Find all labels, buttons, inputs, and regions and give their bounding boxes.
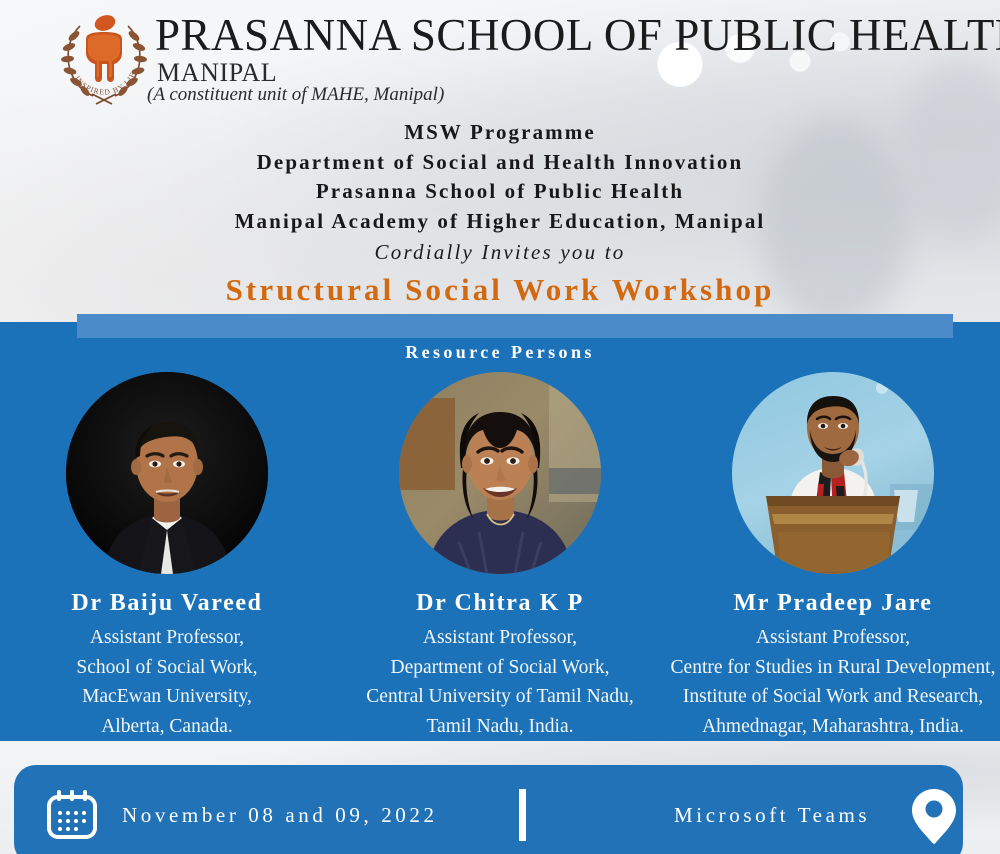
affiliation-line: Centre for Studies in Rural Development, [667, 653, 1000, 683]
calendar-icon [44, 786, 102, 844]
institution-title: PRASANNA SCHOOL OF PUBLIC HEALTH [155, 10, 1000, 60]
event-poster: INSPIRED BY LIFE PRASANNA SCHOOL OF PUBL… [0, 0, 1000, 854]
resource-person-name: Dr Baiju Vareed [1, 590, 334, 617]
photo-chitra-kp [399, 372, 601, 574]
affiliation-line: Assistant Professor, [334, 623, 667, 653]
affiliation-line: MacEwan University, [1, 682, 334, 712]
mahe-logo: INSPIRED BY LIFE [56, 6, 152, 110]
affiliation-line: Ahmednagar, Maharashtra, India. [667, 712, 1000, 742]
programme-line: Prasanna School of Public Health [0, 177, 1000, 207]
affiliation-line: Tamil Nadu, India. [334, 712, 667, 742]
affiliation-line: Alberta, Canada. [1, 712, 334, 742]
event-platform: Microsoft Teams [674, 765, 870, 854]
affiliation-line: Central University of Tamil Nadu, [334, 682, 667, 712]
programme-line: Manipal Academy of Higher Education, Man… [0, 207, 1000, 237]
resource-person-affiliation: Assistant Professor, School of Social Wo… [1, 623, 334, 741]
institution-unit-note: (A constituent unit of MAHE, Manipal) [147, 83, 444, 107]
poster-header: INSPIRED BY LIFE PRASANNA SCHOOL OF PUBL… [0, 0, 1000, 322]
affiliation-line: School of Social Work, [1, 653, 334, 683]
footer-divider [519, 789, 526, 841]
affiliation-line: Assistant Professor, [1, 623, 334, 653]
affiliation-line: Department of Social Work, [334, 653, 667, 683]
resource-person-card: Dr Baiju Vareed Assistant Professor, Sch… [1, 372, 334, 741]
invitation-text: Cordially Invites you to [0, 240, 1000, 265]
event-title: Structural Social Work Workshop [0, 272, 1000, 308]
programme-line: Department of Social and Health Innovati… [0, 148, 1000, 178]
resource-persons-list: Dr Baiju Vareed Assistant Professor, Sch… [0, 372, 1000, 741]
location-pin-icon [907, 787, 961, 845]
resource-person-card: Mr Pradeep Jare Assistant Professor, Cen… [667, 372, 1000, 741]
resource-person-card: Dr Chitra K P Assistant Professor, Depar… [334, 372, 667, 741]
footer-info-bar: November 08 and 09, 2022 Microsoft Teams [14, 765, 963, 854]
resource-person-affiliation: Assistant Professor, Department of Socia… [334, 623, 667, 741]
programme-block: MSW Programme Department of Social and H… [0, 118, 1000, 236]
affiliation-line: Institute of Social Work and Research, [667, 682, 1000, 712]
affiliation-line: Assistant Professor, [667, 623, 1000, 653]
resource-person-affiliation: Assistant Professor, Centre for Studies … [667, 623, 1000, 741]
resource-person-name: Mr Pradeep Jare [667, 590, 1000, 617]
programme-line: MSW Programme [0, 118, 1000, 148]
resource-persons-heading: Resource Persons [0, 342, 1000, 363]
event-date: November 08 and 09, 2022 [122, 765, 438, 854]
photo-pradeep-jare [732, 372, 934, 574]
photo-baiju-vareed [66, 372, 268, 574]
accent-bar [77, 314, 953, 338]
resource-person-name: Dr Chitra K P [334, 590, 667, 617]
